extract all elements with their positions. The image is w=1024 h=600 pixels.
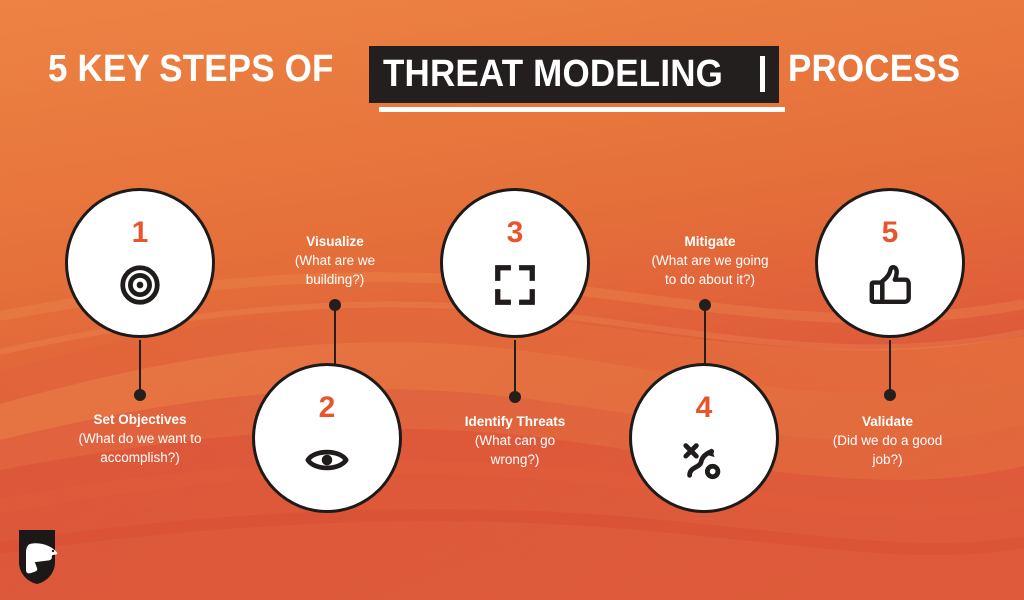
step-1-number: 1: [132, 218, 149, 248]
thumbs-up-icon: [867, 262, 913, 308]
step-5-caption: Validate (Did we do a good job?): [800, 412, 975, 469]
title-divider-bar: [760, 56, 765, 92]
connector-dot: [329, 299, 341, 311]
step-4-number: 4: [696, 393, 713, 423]
target-icon: [117, 262, 163, 308]
step-4-caption-sub-line-1: (What are we going: [620, 251, 800, 270]
step-2-caption-sub-line-1: (What are we: [255, 251, 415, 270]
step-3-caption: Identify Threats (What can go wrong?): [435, 412, 595, 469]
step-2-caption: Visualize (What are we building?): [255, 232, 415, 289]
step-3-caption-sub-line-2: wrong?): [435, 450, 595, 469]
step-4-caption-sub-line-2: to do about it?): [620, 270, 800, 289]
step-1-caption-sub-line-1: (What do we want to: [40, 429, 240, 448]
step-1-connector: [133, 340, 147, 400]
title-highlight-text: THREAT MODELING: [383, 51, 723, 97]
step-3-number: 3: [507, 218, 524, 248]
polar-bear-shield-logo[interactable]: [10, 526, 64, 588]
step-4-circle[interactable]: 4: [629, 363, 779, 513]
connector-dot: [509, 391, 521, 403]
connector-dot: [134, 389, 146, 401]
step-4-connector: [698, 300, 712, 364]
title-highlight-wrapper: THREAT MODELING: [369, 46, 780, 103]
step-5-caption-title: Validate: [800, 412, 975, 431]
step-1-caption-sub-line-2: accomplish?): [40, 448, 240, 467]
step-5-circle[interactable]: 5: [815, 188, 965, 338]
page-title: 5 KEY STEPS OF THREAT MODELING PROCESS: [0, 46, 1024, 103]
title-highlight-box: THREAT MODELING: [369, 46, 780, 103]
title-part-two: PROCESS: [788, 46, 960, 92]
step-5-caption-sub-line-1: (Did we do a good: [800, 431, 975, 450]
connector-dot: [884, 389, 896, 401]
step-5-caption-sub-line-2: job?): [800, 450, 975, 469]
step-3-caption-sub-line-1: (What can go: [435, 431, 595, 450]
step-2-number: 2: [319, 393, 336, 423]
step-2-connector: [328, 300, 342, 364]
step-2-caption-title: Visualize: [255, 232, 415, 251]
step-1-caption-title: Set Objectives: [40, 410, 240, 429]
strategy-icon: [681, 437, 727, 483]
step-1-circle[interactable]: 1: [65, 188, 215, 338]
step-5-connector: [883, 340, 897, 400]
title-part-one: 5 KEY STEPS OF: [48, 46, 334, 92]
step-4-caption: Mitigate (What are we going to do about …: [620, 232, 800, 289]
scan-frame-icon: [492, 262, 538, 308]
connector-dot: [699, 299, 711, 311]
step-2-circle[interactable]: 2: [252, 363, 402, 513]
step-3-caption-title: Identify Threats: [435, 412, 595, 431]
step-3-circle[interactable]: 3: [440, 188, 590, 338]
title-underline: [379, 107, 786, 112]
step-3-connector: [508, 340, 522, 402]
step-2-caption-sub-line-2: building?): [255, 270, 415, 289]
eye-icon: [304, 437, 350, 483]
step-4-caption-title: Mitigate: [620, 232, 800, 251]
step-5-number: 5: [882, 218, 899, 248]
step-1-caption: Set Objectives (What do we want to accom…: [40, 410, 240, 467]
